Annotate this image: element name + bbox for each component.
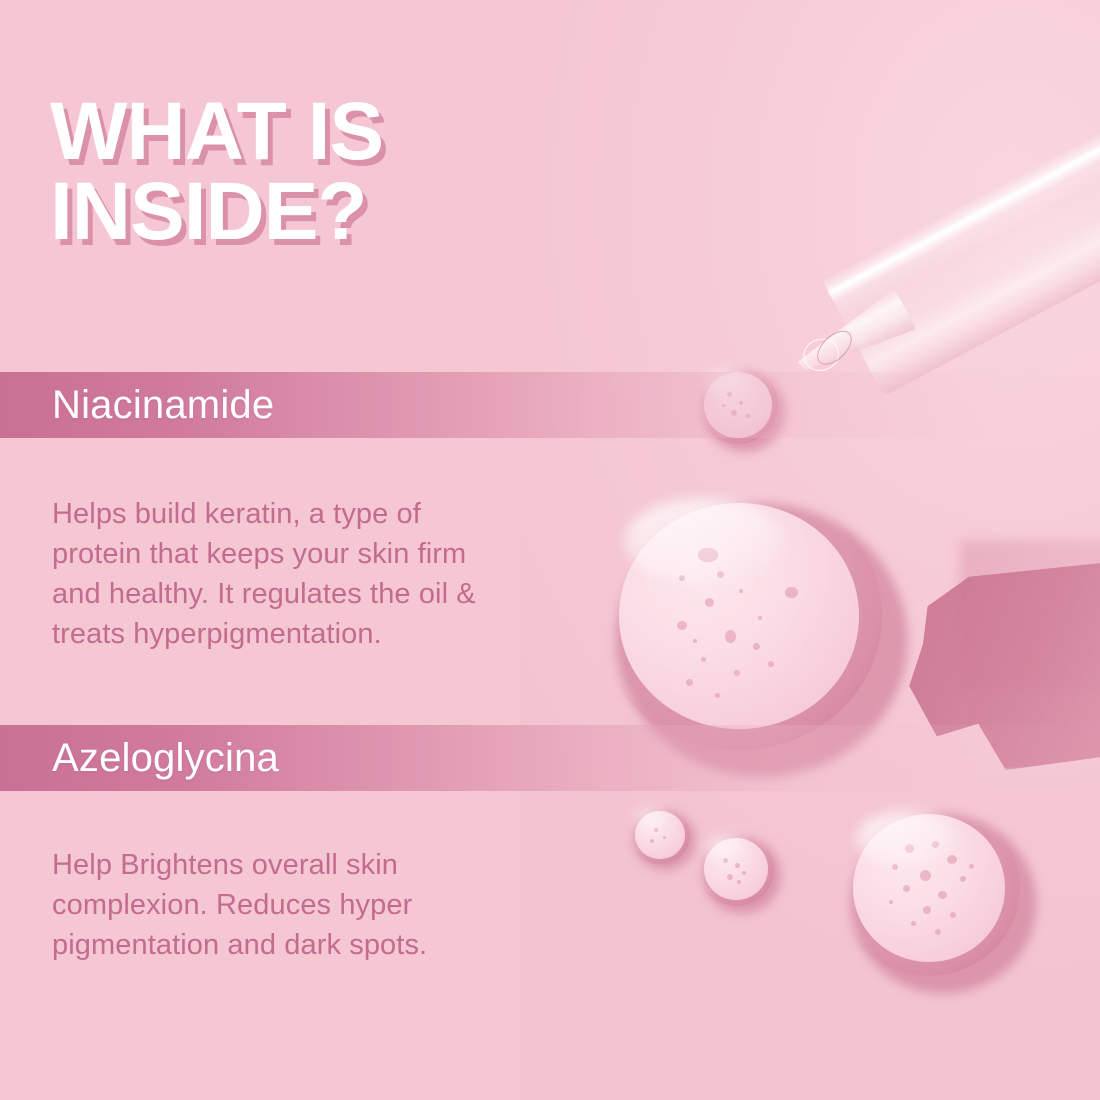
- page-title: WHAT IS INSIDE?: [50, 92, 570, 253]
- gel-droplet-medium: [838, 800, 1020, 976]
- droplet-gloss: [856, 811, 956, 867]
- droplet-gloss: [636, 809, 669, 828]
- ingredient-description-azeloglycina: Help Brightens overall skin complexion. …: [52, 845, 522, 965]
- ingredient-heading-band-azeloglycina: Azeloglycina: [0, 725, 1100, 791]
- product-ingredient-poster: WHAT IS INSIDE? Niacinamide Helps build …: [0, 0, 1100, 1100]
- droplet-gloss: [625, 498, 782, 584]
- ingredient-heading-label: Azeloglycina: [0, 736, 279, 781]
- ingredient-description-niacinamide: Helps build keratin, a type of protein t…: [52, 494, 562, 654]
- gel-droplet-tiny-left: [630, 806, 690, 864]
- gel-droplet-small-mid: [698, 832, 774, 906]
- ingredient-heading-label: Niacinamide: [0, 383, 274, 428]
- gel-droplet-large: [596, 482, 882, 750]
- ingredient-heading-band-niacinamide: Niacinamide: [0, 372, 1100, 438]
